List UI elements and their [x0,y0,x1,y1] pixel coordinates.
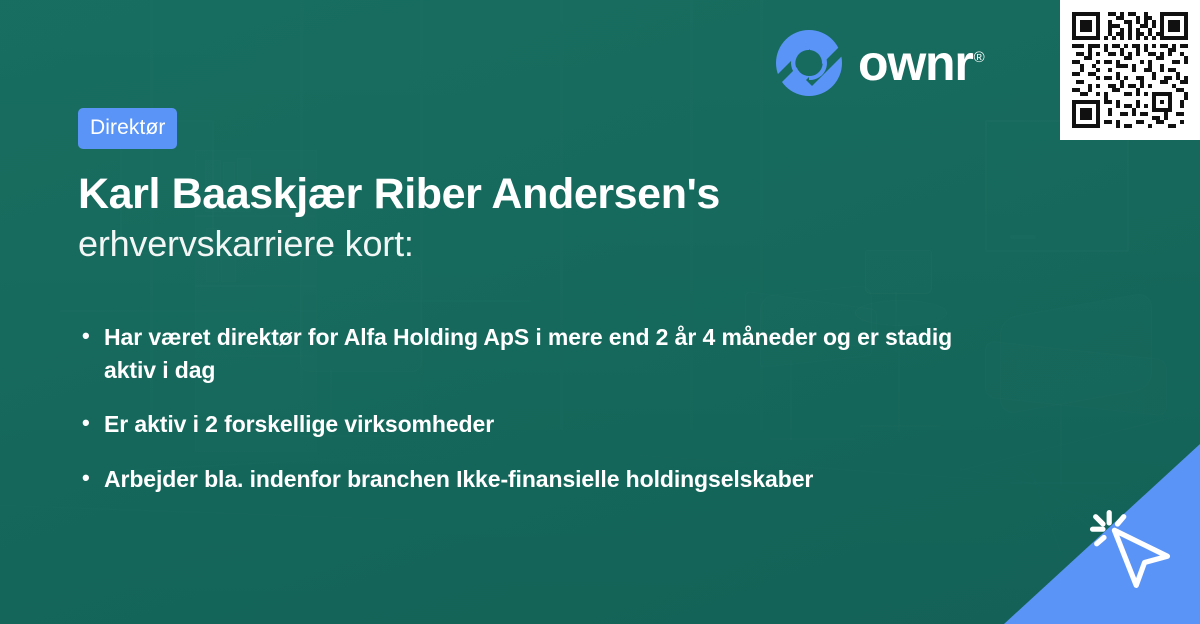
card-content: Direktør Karl Baaskjær Riber Andersen's … [78,108,978,518]
qr-code[interactable] [1060,0,1200,140]
qr-code-icon [1072,12,1188,128]
list-item: Arbejder bla. indenfor branchen Ikke-fin… [78,463,978,496]
role-badge: Direktør [78,108,177,149]
ownr-wordmark: ownr® [858,38,984,88]
list-item: Er aktiv i 2 forskellige virksomheder [78,408,978,441]
ownr-logo[interactable]: ownr® [776,30,984,96]
list-item: Har været direktør for Alfa Holding ApS … [78,321,978,386]
page-subtitle: erhvervskarriere kort: [78,222,978,265]
ownr-circle-logo-icon [776,30,842,96]
click-cursor-icon [1078,498,1182,602]
registered-mark: ® [974,49,984,66]
career-facts-list: Har været direktør for Alfa Holding ApS … [78,321,978,496]
page-title: Karl Baaskjær Riber Andersen's [78,169,978,220]
career-card: ownr® Direktør Karl Baaskjær Riber Ander… [0,0,1200,624]
brand-name: ownr [858,35,973,91]
